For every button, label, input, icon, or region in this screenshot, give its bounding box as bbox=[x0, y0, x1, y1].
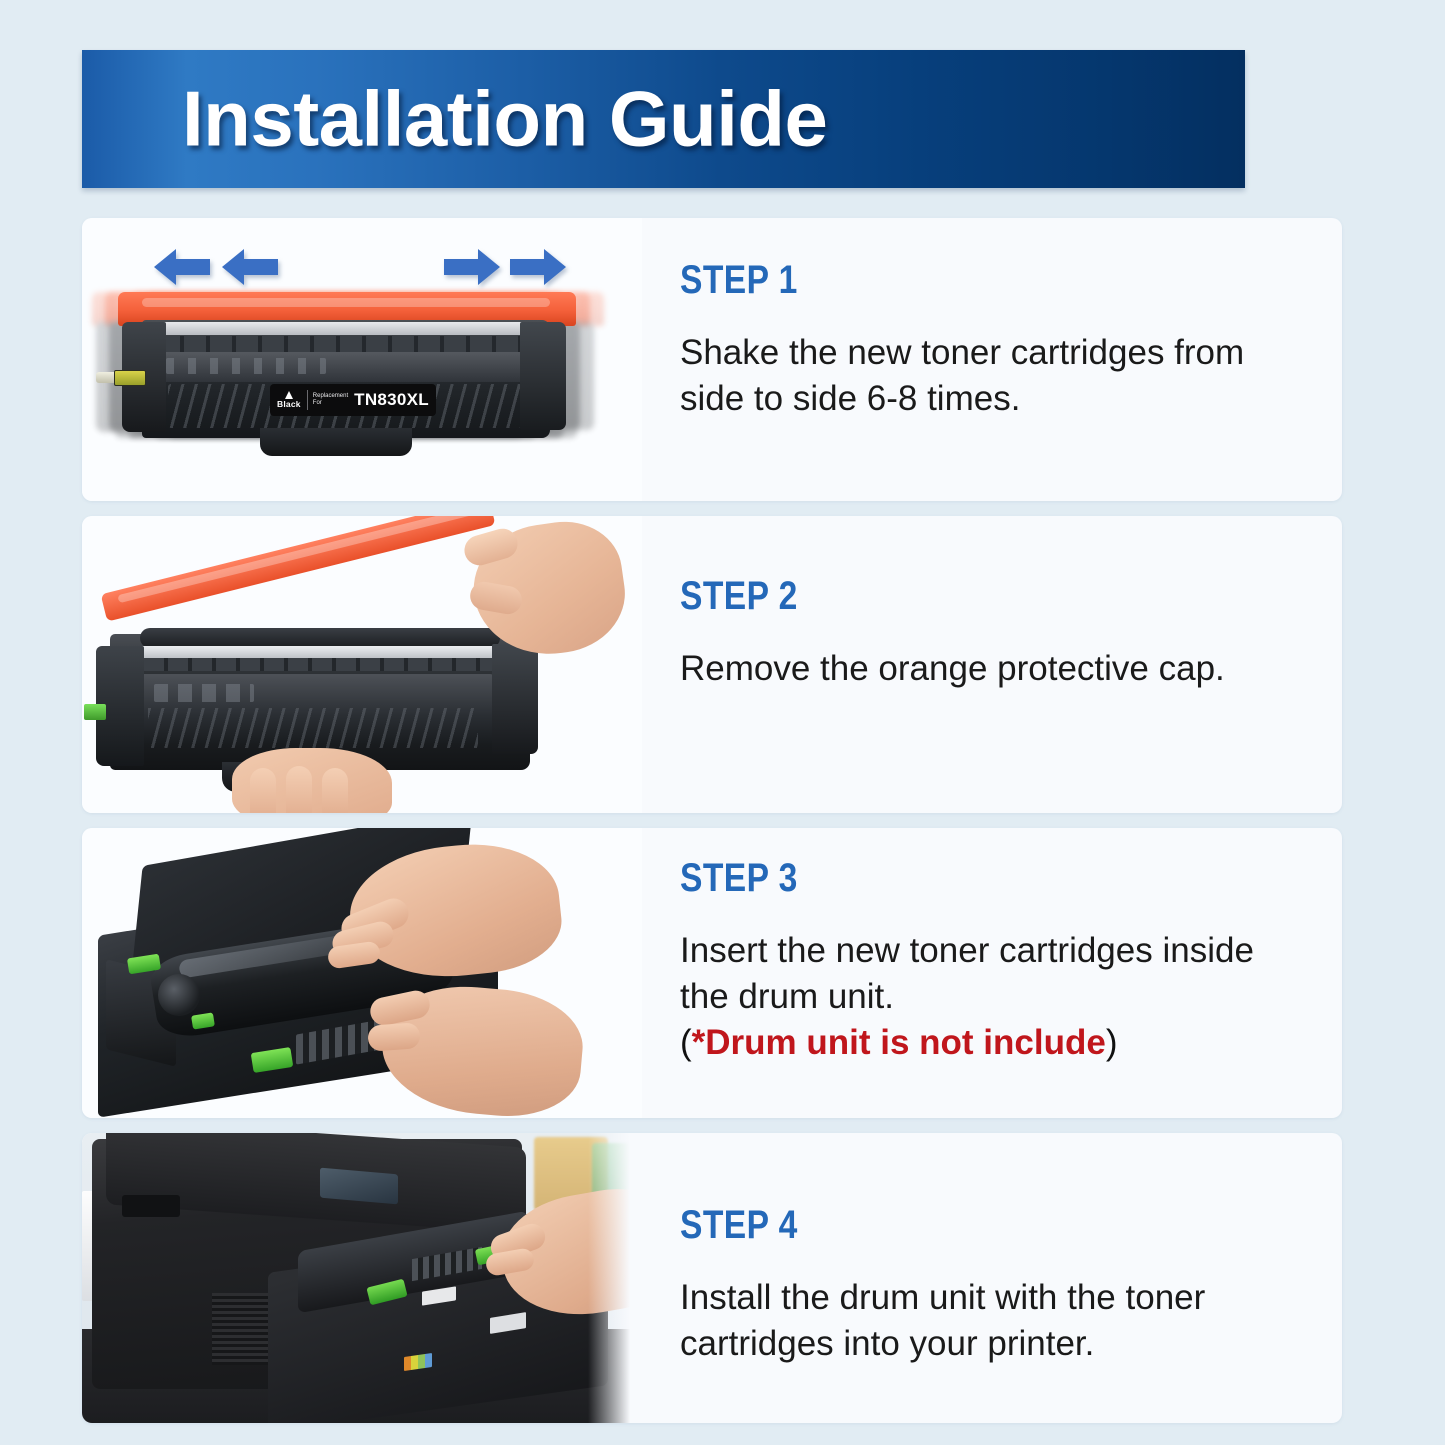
finger bbox=[286, 766, 312, 813]
step-2-body: Remove the orange protective cap. bbox=[680, 646, 1280, 692]
step-3-photo bbox=[82, 828, 642, 1118]
cartridge-right-end-cap bbox=[492, 644, 538, 754]
step-1-body: Shake the new toner cartridges from side… bbox=[680, 330, 1280, 422]
printer-handle-slot bbox=[122, 1195, 180, 1217]
cap-removal-illustration bbox=[82, 516, 642, 813]
label-replacement-for: Replacement For bbox=[313, 393, 348, 408]
cartridge-molded-icons bbox=[154, 684, 254, 702]
cartridge-ribs bbox=[158, 336, 530, 352]
cartridge-chip bbox=[114, 370, 146, 386]
cartridge-handle bbox=[260, 428, 412, 456]
step-3-text: STEP 3 Insert the new toner cartridges i… bbox=[642, 828, 1342, 1118]
black-color-mark: Black bbox=[277, 391, 301, 409]
note-open-paren: ( bbox=[680, 1023, 692, 1062]
label-replacement-line2: For bbox=[313, 400, 348, 408]
step-1-heading: STEP 1 bbox=[680, 260, 1211, 300]
cartridge-top-strip bbox=[134, 646, 506, 658]
step-3-heading: STEP 3 bbox=[680, 858, 1211, 898]
toner-cartridge-illustration: Black Replacement For TN830XL bbox=[82, 272, 642, 492]
step-4-heading: STEP 4 bbox=[680, 1205, 1211, 1245]
step-card-4: STEP 4 Install the drum unit with the to… bbox=[82, 1133, 1342, 1423]
page-title: Installation Guide bbox=[182, 74, 827, 165]
cartridge-right-end-cap bbox=[520, 322, 566, 430]
step-3-body: Insert the new toner cartridges inside t… bbox=[680, 928, 1280, 1020]
finger bbox=[367, 1022, 421, 1052]
installation-guide-page: Installation Guide bbox=[0, 0, 1445, 1445]
orange-protective-cap bbox=[101, 516, 496, 622]
step-2-photo bbox=[82, 516, 642, 813]
step-4-photo bbox=[82, 1133, 642, 1423]
finger bbox=[250, 768, 276, 813]
cartridge-top-strip bbox=[146, 322, 544, 335]
ink-drop-icon bbox=[285, 391, 293, 399]
cartridge-roller bbox=[140, 628, 500, 648]
label-color-name: Black bbox=[277, 400, 301, 409]
cartridge-texture bbox=[148, 708, 478, 748]
note-warning-text: *Drum unit is not include bbox=[692, 1023, 1106, 1062]
step-4-text: STEP 4 Install the drum unit with the to… bbox=[642, 1133, 1342, 1423]
drum-unit-illustration bbox=[82, 828, 642, 1118]
label-model-number: TN830XL bbox=[354, 390, 429, 410]
cartridge-shell bbox=[148, 352, 540, 382]
label-replacement-line1: Replacement bbox=[313, 393, 348, 401]
drum-gear bbox=[158, 974, 200, 1016]
note-close-paren: ) bbox=[1106, 1023, 1118, 1062]
step-4-body: Install the drum unit with the toner car… bbox=[680, 1275, 1280, 1367]
cartridge-ribs bbox=[144, 658, 492, 671]
step-1-photo: Black Replacement For TN830XL bbox=[82, 218, 642, 501]
printer-illustration bbox=[82, 1133, 642, 1423]
header-banner: Installation Guide bbox=[82, 50, 1245, 188]
step-3-note: (*Drum unit is not include) bbox=[680, 1020, 1312, 1066]
photo-edge-fade bbox=[588, 1133, 642, 1423]
step-2-text: STEP 2 Remove the orange protective cap. bbox=[642, 516, 1342, 813]
step-card-3: STEP 3 Insert the new toner cartridges i… bbox=[82, 828, 1342, 1118]
step-card-1: Black Replacement For TN830XL STEP 1 bbox=[82, 218, 1342, 501]
toner-cartridge: Black Replacement For TN830XL bbox=[112, 292, 582, 460]
cartridge-green-chip bbox=[84, 704, 106, 720]
cartridge-label: Black Replacement For TN830XL bbox=[270, 384, 436, 416]
step-card-2: STEP 2 Remove the orange protective cap. bbox=[82, 516, 1342, 813]
step-2-heading: STEP 2 bbox=[680, 576, 1211, 616]
printer-side-vents bbox=[212, 1293, 272, 1365]
finger bbox=[322, 768, 348, 813]
step-1-text: STEP 1 Shake the new toner cartridges fr… bbox=[642, 218, 1342, 501]
